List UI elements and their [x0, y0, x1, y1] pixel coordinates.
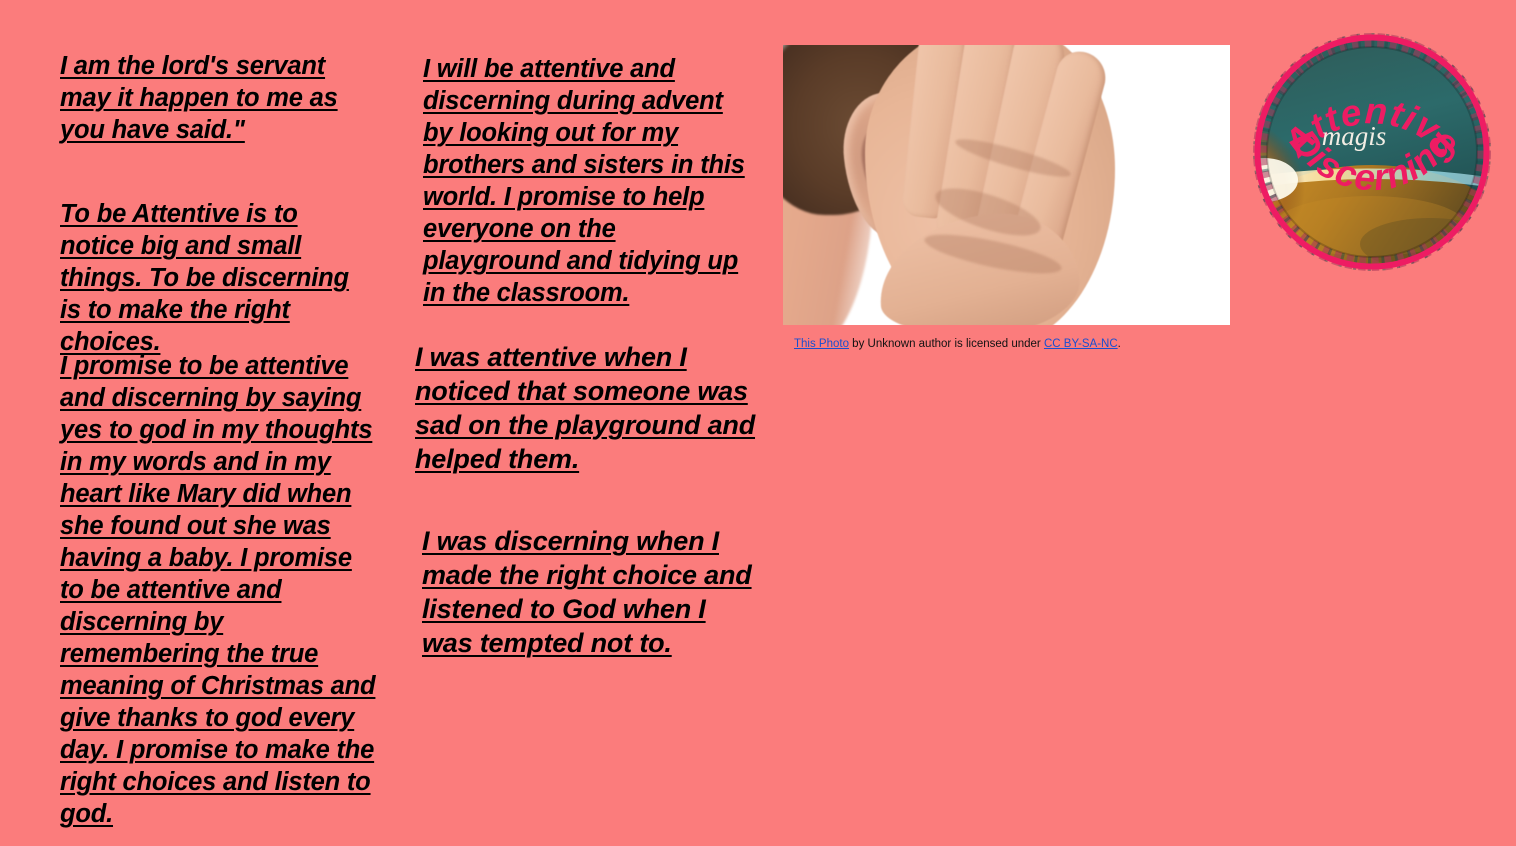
advent-promise-text: I will be attentive and discerning durin…	[423, 53, 745, 309]
personal-promise-text: I promise to be attentive and discerning…	[60, 350, 378, 830]
attentive-discerning-definition-text: To be Attentive is to notice big and sma…	[60, 198, 372, 358]
logo-center-text: magis	[1322, 121, 1387, 151]
attentive-example-text: I was attentive when I noticed that some…	[415, 340, 755, 476]
photo-credit-middle-text: by Unknown author is licensed under	[849, 338, 1044, 350]
listening-ear-photo	[783, 45, 1230, 325]
discerning-example-text: I was discerning when I made the right c…	[422, 524, 760, 660]
photo-credit: This Photo by Unknown author is licensed…	[794, 337, 1146, 351]
photo-credit-trailing-text: .	[1118, 338, 1121, 350]
slide-canvas: I am the lord's servant may it happen to…	[0, 0, 1516, 846]
this-photo-link[interactable]: This Photo	[794, 338, 849, 350]
magis-logo: Attentive Discerning magis	[1250, 30, 1494, 274]
ear-photo-canvas	[783, 45, 1230, 325]
cc-license-link[interactable]: CC BY-SA-NC	[1044, 338, 1118, 350]
scripture-quote-text: I am the lord's servant may it happen to…	[60, 50, 376, 146]
